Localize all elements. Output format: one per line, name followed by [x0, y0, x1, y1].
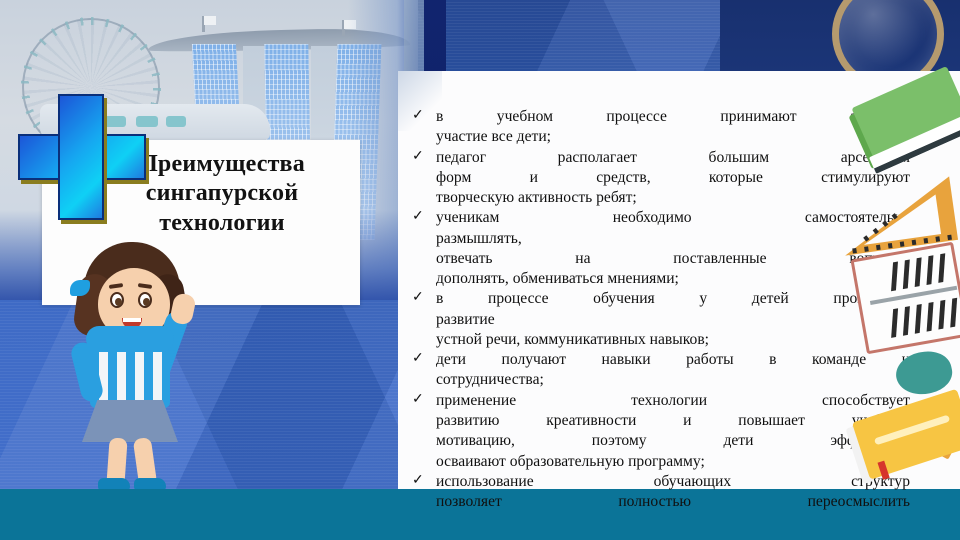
list-item: ✓использование обучающих структурпозволя…	[410, 472, 910, 513]
plus-vertical-bar	[58, 94, 104, 220]
list-item-line: в процессе обучения у детей происходит	[436, 289, 910, 309]
checkmark-icon: ✓	[412, 472, 424, 490]
list-item: ✓педагог располагает большим арсеналомфо…	[410, 148, 910, 209]
list-item-line: сотрудничества;	[436, 370, 910, 390]
list-item-line: дети получают навыки работы в команде и	[436, 350, 910, 370]
list-item-line: использование обучающих структур	[436, 472, 910, 492]
blue-plus-icon	[14, 92, 146, 218]
list-item-line: в учебном процессе принимают активное	[436, 107, 910, 127]
list-item: ✓дети получают навыки работы в команде и…	[410, 350, 910, 391]
list-item-line: размышлять,	[436, 229, 910, 249]
checkmark-icon: ✓	[412, 148, 424, 166]
advantages-list: ✓в учебном процессе принимают активноеуч…	[410, 107, 910, 512]
list-item: ✓в учебном процессе принимают активноеуч…	[410, 107, 910, 148]
checkmark-icon: ✓	[412, 107, 424, 125]
list-item-line: развитию креативности и повышает учебную	[436, 411, 910, 431]
girl-skirt	[82, 400, 178, 442]
checkmark-icon: ✓	[412, 208, 424, 226]
roof-mast-icon	[342, 20, 345, 36]
list-item-line: отвечать на поставленные вопросы,	[436, 249, 910, 269]
list-item-line: позволяет полностью переосмыслить	[436, 492, 910, 512]
waterfront-pod	[166, 116, 186, 127]
roof-mast-icon	[202, 16, 205, 32]
girl-eye-left	[110, 292, 124, 308]
list-item-line: мотивацию, поэтому дети эффективно	[436, 431, 910, 451]
checkmark-icon: ✓	[412, 289, 424, 307]
list-item-line: ученикам необходимо самостоятельно	[436, 208, 910, 228]
girl-jacket-hood	[86, 326, 174, 352]
list-item-line: участие все дети;	[436, 127, 910, 147]
girl-eyebrow-right	[138, 283, 152, 289]
list-item: ✓применение технологии способствуетразви…	[410, 391, 910, 472]
list-item-line: осваивают образовательную программу;	[436, 452, 910, 472]
list-item-line: дополнять, обмениваться мнениями;	[436, 269, 910, 289]
list-item: ✓в процессе обучения у детей происходитр…	[410, 289, 910, 350]
list-item-line: форм и средств, которые стимулируют	[436, 168, 910, 188]
list-item-line: педагог располагает большим арсеналом	[436, 148, 910, 168]
schoolgirl-illustration	[60, 240, 210, 490]
list-item: ✓ученикам необходимо самостоятельноразмы…	[410, 208, 910, 289]
checkmark-icon: ✓	[412, 391, 424, 409]
girl-eye-right	[138, 292, 152, 308]
list-item-line: применение технологии способствует	[436, 391, 910, 411]
checkmark-icon: ✓	[412, 350, 424, 368]
list-item-line: развитие	[436, 310, 910, 330]
list-item-line: творческую активность ребят;	[436, 188, 910, 208]
list-item-line: устной речи, коммуникативных навыков;	[436, 330, 910, 350]
girl-eyebrow-left	[109, 283, 123, 289]
slide: Преимущества сингапурской технологии	[0, 0, 960, 540]
